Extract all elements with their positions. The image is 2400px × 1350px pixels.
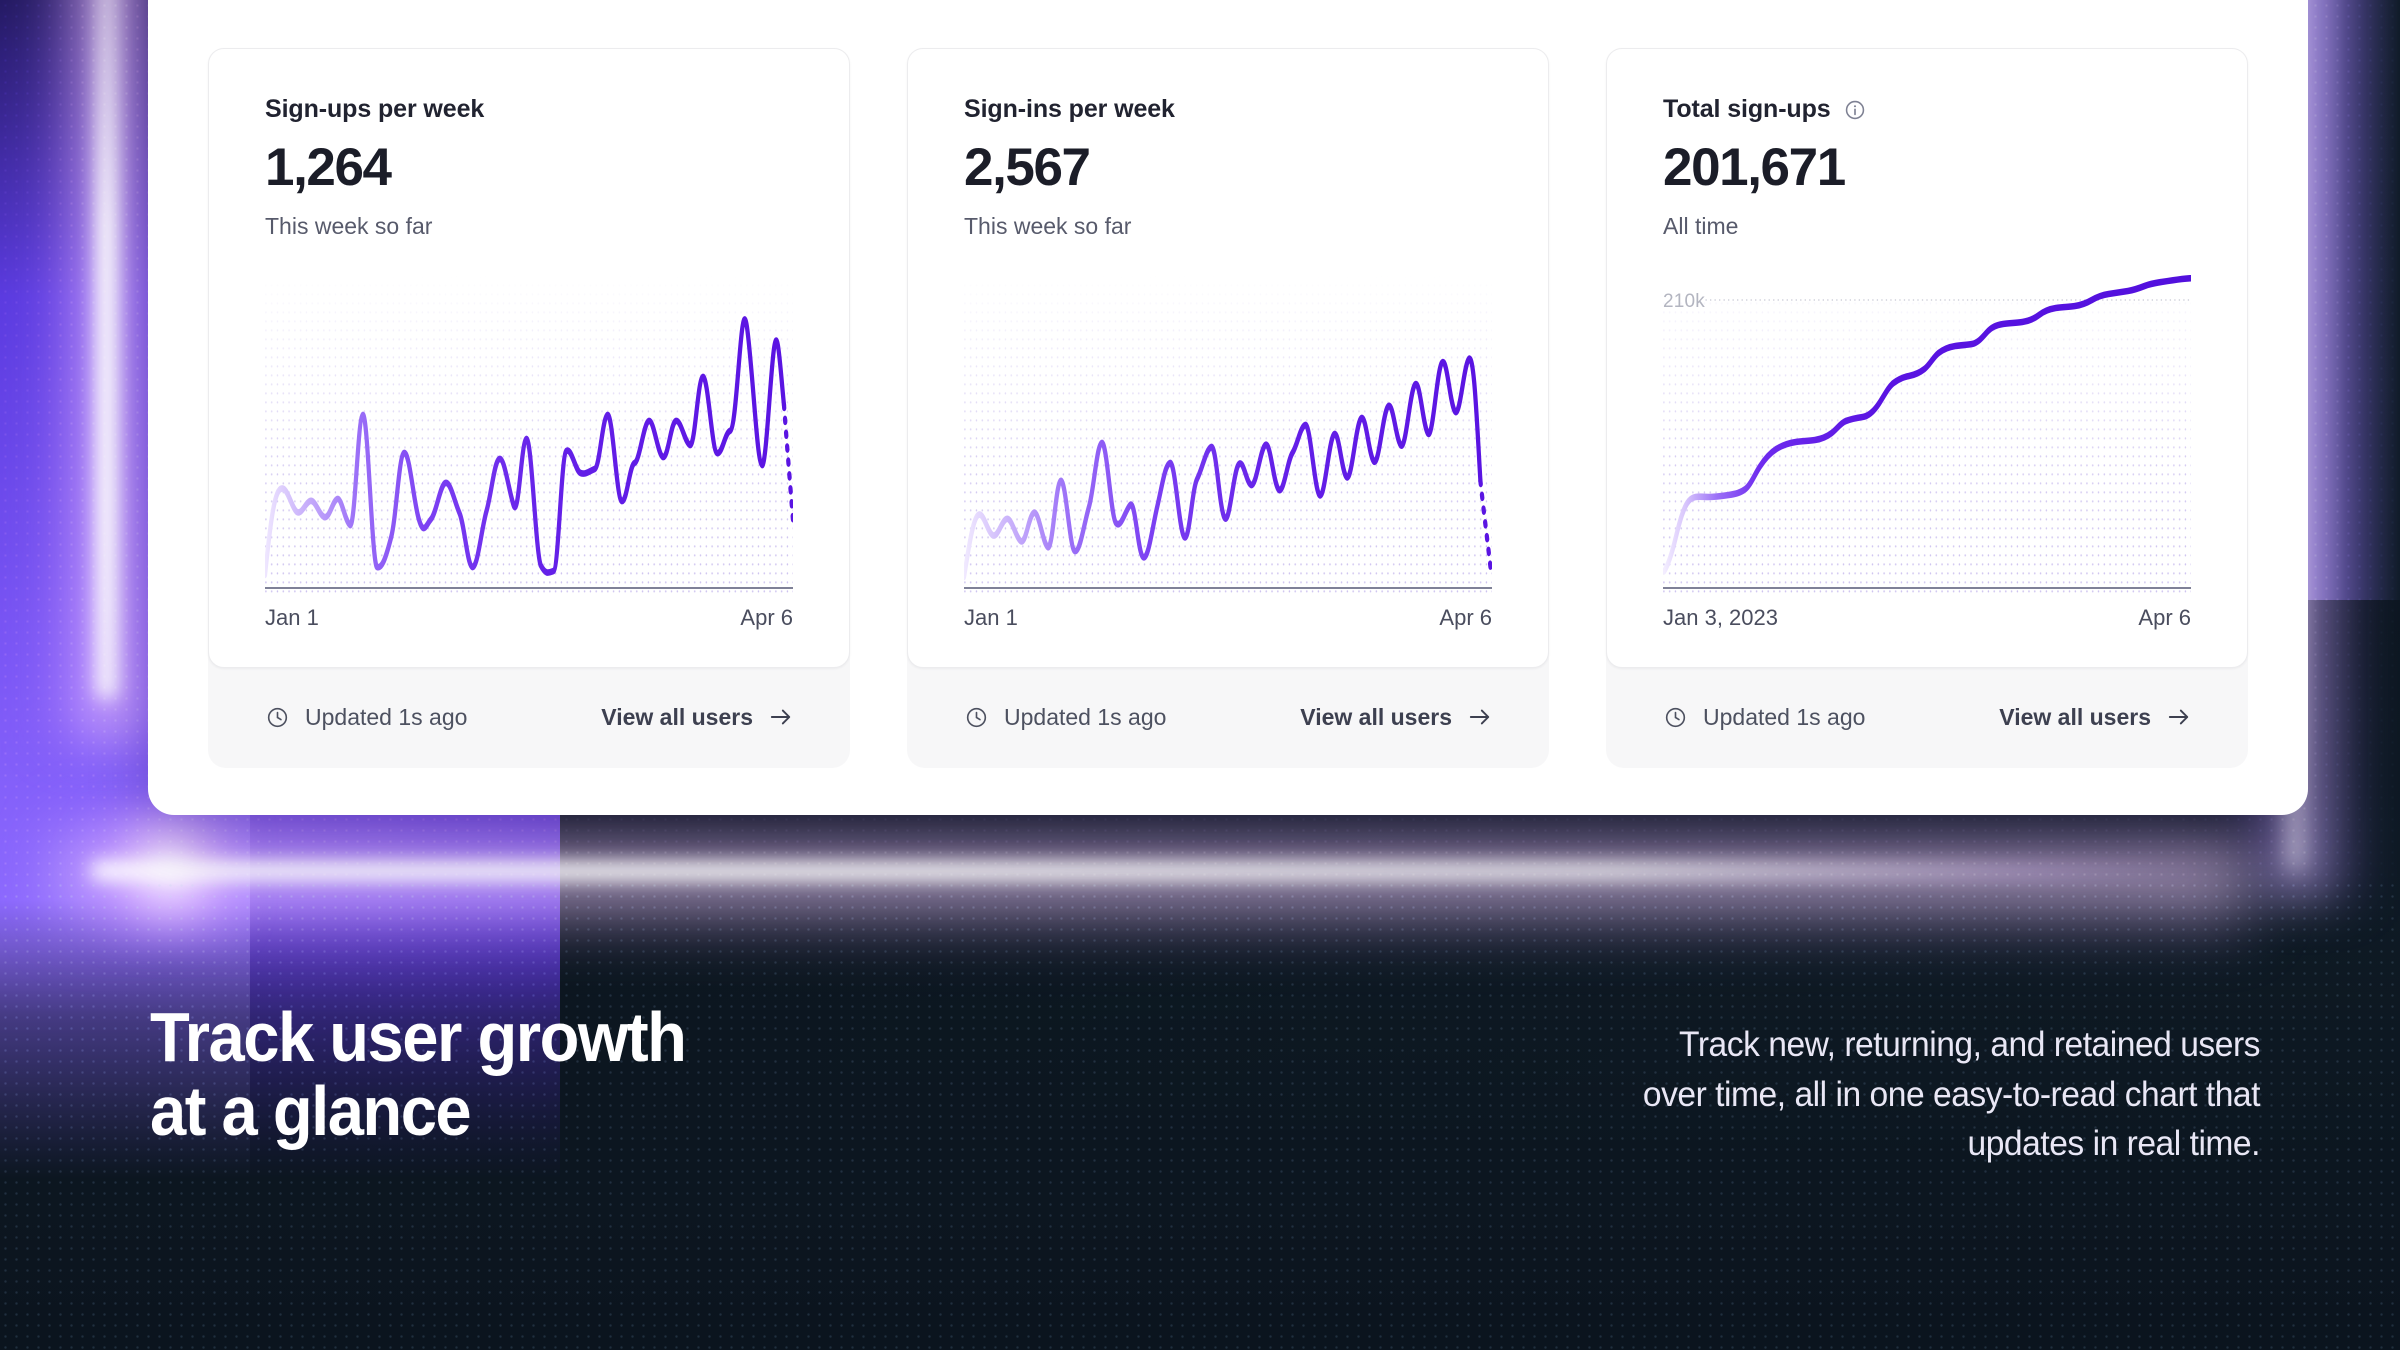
view-all-users-label: View all users	[601, 704, 753, 731]
card-subtitle: This week so far	[964, 213, 1492, 240]
card-body: Sign-ins per week 2,567 This week so far	[907, 48, 1549, 668]
sparkline-svg	[964, 275, 1492, 593]
hero-headline: Track user growth at a glance	[150, 1000, 1080, 1148]
arrow-right-icon	[2168, 708, 2190, 726]
hero-headline-line-1: Track user growth	[150, 1000, 1080, 1074]
clock-icon	[965, 706, 988, 729]
updated-text: Updated 1s ago	[305, 704, 467, 731]
metric-card-total-signups: Total sign-ups 201,671 All time 210k	[1606, 48, 2248, 768]
view-all-users-label: View all users	[1999, 704, 2151, 731]
card-subtitle: All time	[1663, 213, 2191, 240]
card-title: Sign-ups per week	[265, 95, 484, 124]
sparkline-svg	[265, 275, 793, 593]
hero-description: Track new, returning, and retained users…	[1626, 1020, 2260, 1169]
card-body: Sign-ups per week 1,264 This week so far	[208, 48, 850, 668]
updated-status: Updated 1s ago	[266, 704, 467, 731]
card-header: Sign-ins per week	[964, 95, 1492, 124]
metric-card-signins: Sign-ins per week 2,567 This week so far	[907, 48, 1549, 768]
updated-status: Updated 1s ago	[1664, 704, 1865, 731]
sparkline-chart-signups	[265, 275, 793, 593]
card-value: 1,264	[265, 140, 793, 196]
card-title: Total sign-ups	[1663, 95, 1831, 124]
view-all-users-link[interactable]: View all users	[1999, 704, 2190, 731]
card-subtitle: This week so far	[265, 213, 793, 240]
clock-icon	[266, 706, 289, 729]
updated-text: Updated 1s ago	[1703, 704, 1865, 731]
chart-axis-labels: Jan 3, 2023 Apr 6	[1663, 605, 2191, 631]
card-title: Sign-ins per week	[964, 95, 1175, 124]
x-axis-start-label: Jan 3, 2023	[1663, 605, 1778, 631]
x-axis-end-label: Apr 6	[740, 605, 793, 631]
chart-axis-labels: Jan 1 Apr 6	[964, 605, 1492, 631]
updated-text: Updated 1s ago	[1004, 704, 1166, 731]
info-circle-icon[interactable]	[1844, 99, 1866, 121]
chart-area: Jan 1 Apr 6	[964, 275, 1492, 667]
sparkline-chart-signins	[964, 275, 1492, 593]
cumulative-chart-total-signups: 210k	[1663, 275, 2191, 593]
view-all-users-link[interactable]: View all users	[1300, 704, 1491, 731]
hero-headline-line-2: at a glance	[150, 1074, 1080, 1148]
updated-status: Updated 1s ago	[965, 704, 1166, 731]
x-axis-end-label: Apr 6	[2138, 605, 2191, 631]
y-axis-gridline-label: 210k	[1663, 291, 1705, 313]
card-body: Total sign-ups 201,671 All time 210k	[1606, 48, 2248, 668]
arrow-right-icon	[770, 708, 792, 726]
metric-card-signups: Sign-ups per week 1,264 This week so far	[208, 48, 850, 768]
chart-axis-labels: Jan 1 Apr 6	[265, 605, 793, 631]
cumulative-svg	[1663, 275, 2191, 593]
clock-icon	[1664, 706, 1687, 729]
card-header: Sign-ups per week	[265, 95, 793, 124]
x-axis-end-label: Apr 6	[1439, 605, 1492, 631]
x-axis-start-label: Jan 1	[964, 605, 1018, 631]
card-value: 2,567	[964, 140, 1492, 196]
card-footer: Updated 1s ago View all users	[208, 668, 850, 766]
metric-card-row: Sign-ups per week 1,264 This week so far	[148, 48, 2308, 768]
view-all-users-label: View all users	[1300, 704, 1452, 731]
card-value: 201,671	[1663, 140, 2191, 196]
card-footer: Updated 1s ago View all users	[1606, 668, 2248, 766]
chart-area: Jan 1 Apr 6	[265, 275, 793, 667]
x-axis-start-label: Jan 1	[265, 605, 319, 631]
chart-area: 210k	[1663, 275, 2191, 667]
view-all-users-link[interactable]: View all users	[601, 704, 792, 731]
card-footer: Updated 1s ago View all users	[907, 668, 1549, 766]
card-header: Total sign-ups	[1663, 95, 2191, 124]
arrow-right-icon	[1469, 708, 1491, 726]
